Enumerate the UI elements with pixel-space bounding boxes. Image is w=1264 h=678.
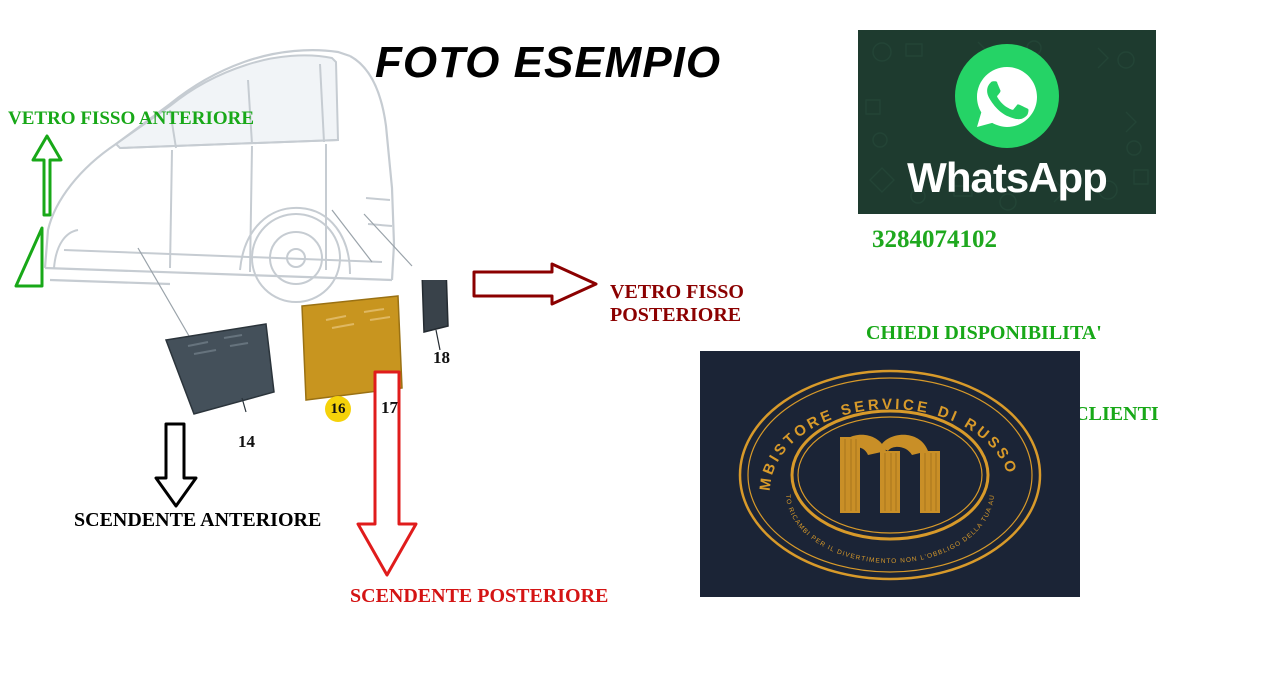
label-scendente-anteriore: SCENDENTE ANTERIORE [74, 509, 321, 532]
shop-logo: MRICAMBISTORE SERVICE DI RUSSO MARCO AUT… [700, 351, 1080, 597]
whatsapp-info-line1: CHIEDI DISPONIBILITA' [866, 320, 1159, 347]
whatsapp-banner: WhatsApp [858, 30, 1156, 214]
exploded-glass-parts [150, 280, 480, 460]
diagram-canvas: 14 16 17 18 FOTO ESEMPIO VETRO FISSO ANT… [0, 0, 1264, 678]
part-17-shape [302, 296, 402, 408]
part-number-18: 18 [433, 348, 450, 368]
part-18-shape [422, 280, 448, 350]
part-number-16-badge: 16 [325, 396, 351, 422]
logo-monogram [840, 435, 940, 513]
part-number-14: 14 [238, 432, 255, 452]
label-vetro-fisso-anteriore: VETRO FISSO ANTERIORE [8, 108, 254, 130]
whatsapp-phone-number: 3284074102 [872, 226, 997, 254]
page-title: FOTO ESEMPIO [375, 38, 721, 88]
whatsapp-wordmark: WhatsApp [858, 154, 1156, 202]
part-14-shape [166, 324, 274, 414]
arrow-vetro-fisso-posteriore [474, 264, 596, 304]
part-number-17: 17 [381, 398, 398, 418]
label-scendente-posteriore: SCENDENTE POSTERIORE [350, 585, 608, 608]
label-vetro-fisso-posteriore: VETRO FISSO POSTERIORE [610, 281, 744, 327]
whatsapp-icon [955, 44, 1059, 148]
